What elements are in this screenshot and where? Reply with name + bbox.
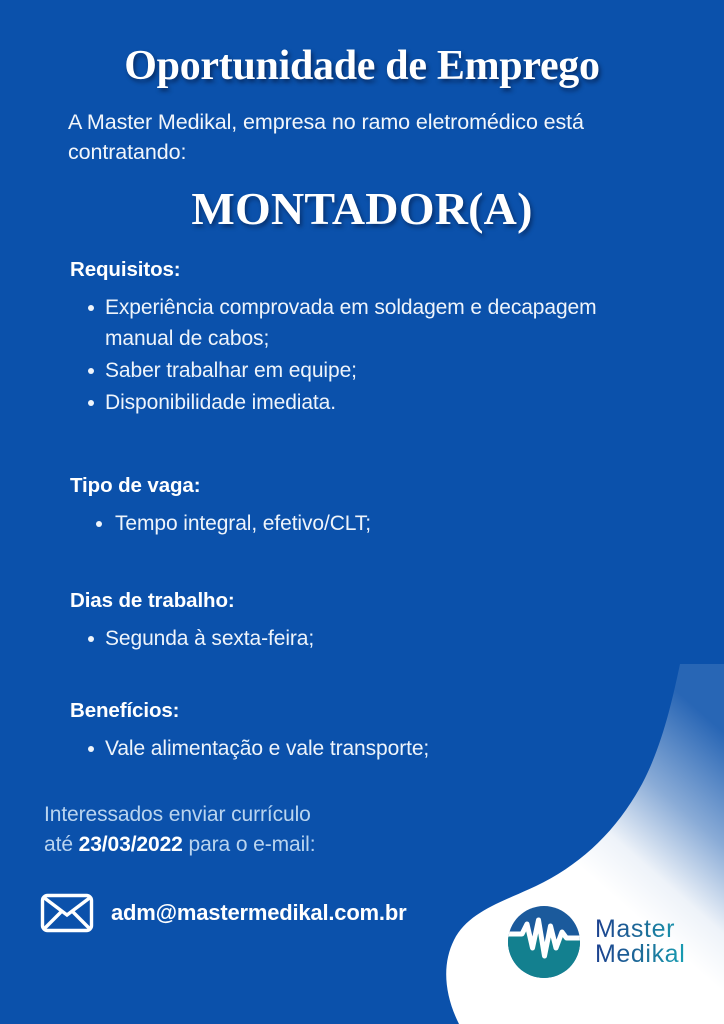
company-logo: Master Medikal xyxy=(505,903,685,981)
requisitos-list: Experiência comprovada em soldagem e dec… xyxy=(70,292,670,418)
envelope-icon xyxy=(40,893,94,933)
section-requisitos: Requisitos: Experiência comprovada em so… xyxy=(70,258,670,419)
list-item: Vale alimentação e vale transporte; xyxy=(70,733,670,764)
intro-text: A Master Medikal, empresa no ramo eletro… xyxy=(68,107,658,167)
tipo-de-vaga-list: Tempo integral, efetivo/CLT; xyxy=(70,508,670,539)
cta-line-1: Interessados enviar currículo xyxy=(44,800,315,830)
cta-suffix: para o e-mail: xyxy=(183,833,316,856)
logo-wordmark: Master Medikal xyxy=(595,917,685,968)
list-item: Tempo integral, efetivo/CLT; xyxy=(70,508,670,539)
job-role-title: MONTADOR(A) xyxy=(0,182,724,235)
section-beneficios: Benefícios: Vale alimentação e vale tran… xyxy=(70,699,670,765)
list-item: Segunda à sexta-feira; xyxy=(70,623,670,654)
list-item: Experiência comprovada em soldagem e dec… xyxy=(70,292,670,354)
heartbeat-circle-icon xyxy=(505,903,583,981)
submission-instructions: Interessados enviar currículo até 23/03/… xyxy=(44,800,315,860)
deadline-date: 23/03/2022 xyxy=(79,833,183,856)
list-item: Disponibilidade imediata. xyxy=(70,387,670,418)
section-dias-de-trabalho: Dias de trabalho: Segunda à sexta-feira; xyxy=(70,589,670,655)
section-heading: Tipo de vaga: xyxy=(70,474,670,498)
section-heading: Benefícios: xyxy=(70,699,670,723)
dias-de-trabalho-list: Segunda à sexta-feira; xyxy=(70,623,670,654)
cta-prefix: até xyxy=(44,833,79,856)
email-contact-row[interactable]: adm@mastermedikal.com.br xyxy=(40,893,406,933)
section-tipo-de-vaga: Tipo de vaga: Tempo integral, efetivo/CL… xyxy=(70,474,670,540)
job-posting-poster: Oportunidade de Emprego A Master Medikal… xyxy=(0,0,724,1024)
cta-line-2: até 23/03/2022 para o e-mail: xyxy=(44,830,315,860)
logo-line-2: Medikal xyxy=(595,942,685,968)
page-title: Oportunidade de Emprego xyxy=(0,42,724,90)
section-heading: Dias de trabalho: xyxy=(70,589,670,613)
section-heading: Requisitos: xyxy=(70,258,670,282)
list-item: Saber trabalhar em equipe; xyxy=(70,355,670,386)
beneficios-list: Vale alimentação e vale transporte; xyxy=(70,733,670,764)
logo-line-1: Master xyxy=(595,917,685,943)
email-address[interactable]: adm@mastermedikal.com.br xyxy=(111,900,406,926)
